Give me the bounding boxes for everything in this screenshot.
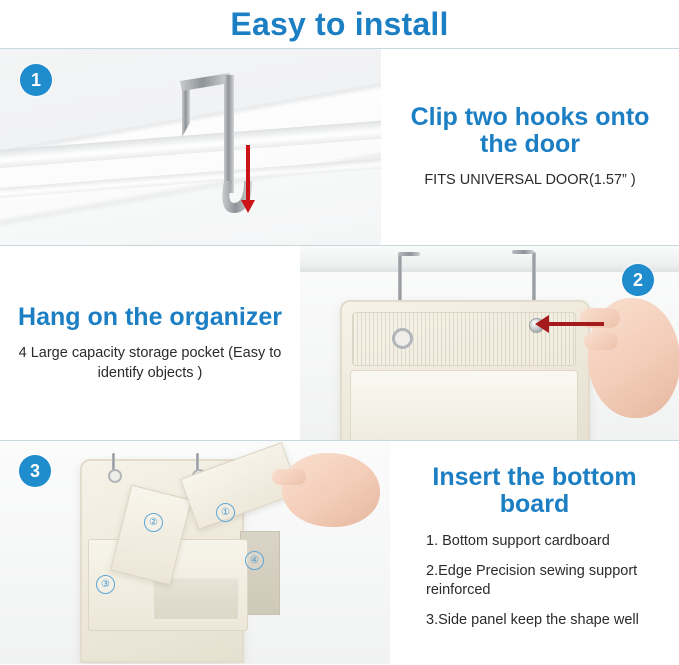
step-1-panel: 1 Clip two hooks onto the door FITS UNIV… [0,49,679,245]
list-item: 2.Edge Precision sewing support reinforc… [426,562,669,600]
step-3-illustration: ② ① ③ ④ 3 [0,441,390,664]
marker-one: ① [216,503,235,522]
step-2-badge: 2 [622,264,654,296]
step-2-illustration: 2 [300,246,679,440]
step-1-illustration: 1 [0,49,381,245]
organizer-lower-pocket [350,370,578,440]
step-1-subtitle: FITS UNIVERSAL DOOR(1.57” ) [424,170,635,190]
step-3-badge: 3 [19,455,51,487]
hand-illustration-3 [282,453,380,527]
hook-icon [168,61,298,241]
step-3-panel: ② ① ③ ④ 3 Insert the bottom board 1. Bot… [0,441,679,664]
list-item: 3.Side panel keep the shape well [426,611,669,630]
step-2-panel: Hang on the organizer 4 Large capacity s… [0,246,679,440]
hand-finger-3a [272,469,306,485]
step-3-text: Insert the bottom board 1. Bottom suppor… [390,441,679,664]
step-1-badge: 1 [20,64,52,96]
metal-hook-illustration [168,61,298,245]
red-down-arrow-icon [246,145,250,201]
hand-finger-2 [584,332,618,350]
step-1-heading: Clip two hooks onto the door [391,104,669,158]
list-item: 1. Bottom support cardboard [426,532,669,551]
step-2-text: Hang on the organizer 4 Large capacity s… [0,246,300,440]
hook-right-top [512,250,534,254]
step-1-text: Clip two hooks onto the door FITS UNIVER… [381,49,679,245]
hook-left-top [398,252,420,256]
marker-two: ② [144,513,163,532]
step-3-heading: Insert the bottom board [400,464,669,518]
red-left-arrow-icon [548,322,604,326]
grommet-left [392,328,413,349]
page-header: Easy to install [0,0,679,48]
step-2-heading: Hang on the organizer [18,304,282,331]
grommet-left-3 [108,469,122,483]
marker-three: ③ [96,575,115,594]
step-3-bullet-list: 1. Bottom support cardboard 2.Edge Preci… [400,532,669,642]
page-title: Easy to install [230,8,448,40]
door-top-edge [300,246,679,272]
marker-four: ④ [245,551,264,570]
step-2-subtitle: 4 Large capacity storage pocket (Easy to… [10,343,290,383]
